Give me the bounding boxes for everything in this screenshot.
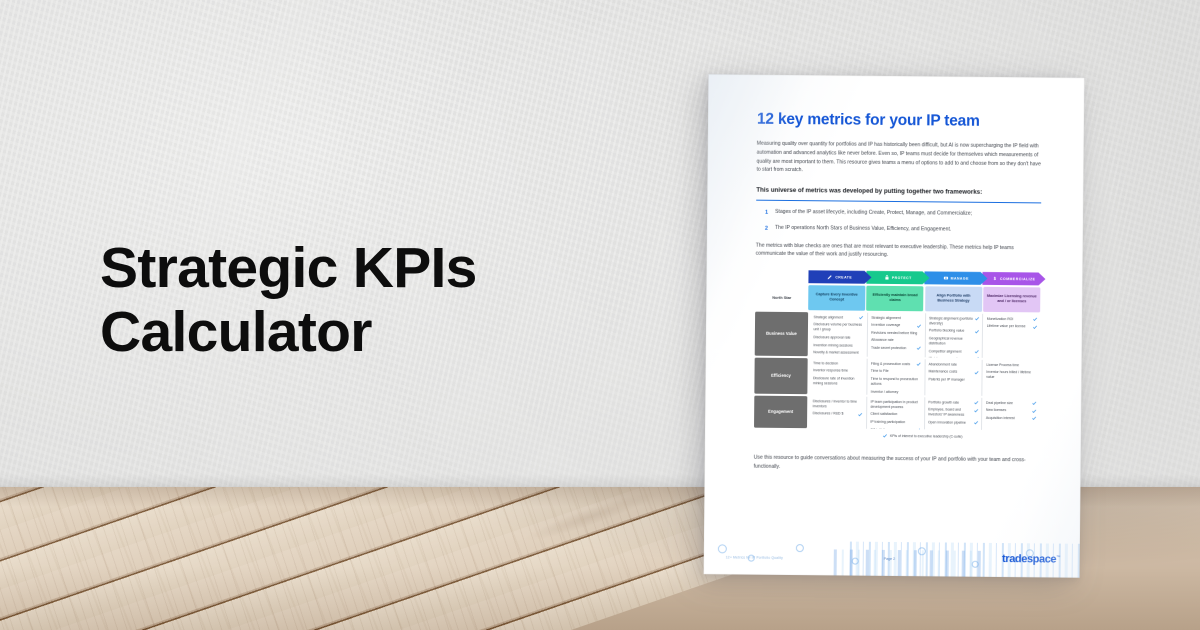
divider-rule	[756, 200, 1041, 204]
metric-label: Disclosures / R&D $	[813, 411, 857, 416]
metric-item: Competitor alignment	[929, 349, 979, 355]
metric-label: Time to decision	[813, 361, 863, 367]
matrix-cell: Strategic alignment (portfolio diversity…	[925, 313, 983, 358]
headline-line-2: Calculator	[100, 301, 620, 365]
legend: KPIs of interest to executive leadership…	[807, 433, 1039, 440]
metric-item: IP team participation in product develop…	[870, 399, 920, 410]
stage-chevron-manage[interactable]: MANAGE	[924, 271, 987, 285]
metric-item: Inventor hours billed / lifetime value	[986, 370, 1036, 381]
metric-label: IP team participation in product develop…	[870, 399, 920, 410]
metric-label: IP risk assessment	[929, 357, 973, 359]
blue-check-icon	[883, 434, 887, 438]
list-item-number: 2	[765, 224, 768, 232]
metric-item: New licenses	[986, 408, 1036, 414]
document-footer: 12+ Metrics for IP Portfolio Quality Pag…	[704, 540, 1080, 578]
blue-check-icon	[974, 357, 978, 358]
blue-check-icon	[859, 316, 863, 320]
metric-item: QC initiatives	[870, 427, 920, 430]
logo-text: tradespace	[1002, 553, 1056, 566]
blue-check-icon	[917, 324, 921, 328]
matrix-cell: License Process timeInventor hours bille…	[983, 359, 1040, 396]
metric-item: Disclosures / inventor to time inventors	[813, 399, 863, 410]
blue-check-icon	[974, 421, 978, 425]
metric-item: Strategic alignment	[871, 315, 921, 321]
stage-chevron-commercialize[interactable]: $COMMERCIALIZE	[982, 272, 1045, 286]
blue-check-icon	[975, 329, 979, 333]
metric-label: Inventor / attorney responsiveness	[871, 389, 921, 396]
blue-check-icon	[917, 347, 921, 351]
metric-label: Disclosures / inventor to time inventors	[813, 399, 863, 410]
ring-icon	[796, 544, 804, 552]
blue-check-icon	[974, 370, 978, 374]
metric-label: Time to File	[871, 369, 921, 375]
page-title: Strategic KPIs Calculator	[100, 237, 620, 365]
matrix-row: Business ValueStrategic alignmentDisclos…	[755, 311, 1040, 358]
metric-item: IP risk assessment	[929, 357, 979, 359]
metric-item: Acquisition interest	[986, 416, 1036, 422]
metric-label: Disclosure rate of invention mining sess…	[813, 376, 863, 387]
logo-trademark: ™	[1056, 554, 1060, 559]
matrix-row-cells: Disclosures / inventor to time inventors…	[809, 396, 1039, 430]
matrix-cell: Monetization ROILifetime value per licen…	[983, 313, 1040, 358]
metric-label: New licenses	[986, 408, 1030, 413]
metric-label: Monetization ROI	[987, 317, 1031, 322]
north-star-cell: Maximize Licensing revenue and / or lice…	[983, 286, 1040, 312]
framework-list: 1Stages of the IP asset lifecycle, inclu…	[756, 209, 1041, 235]
metric-item: IP training participation	[870, 420, 920, 426]
metric-label: Allowance rate	[871, 338, 921, 344]
metric-label: Portfolio growth rate	[928, 400, 972, 405]
document-note: The metrics with blue checks are ones th…	[756, 241, 1041, 261]
blue-check-icon	[974, 408, 978, 412]
metric-item: Disclosure rate of invention mining sess…	[813, 376, 863, 387]
matrix-cell: Strategic alignmentInvention coverageRev…	[867, 312, 925, 357]
matrix-row-label: Business Value	[755, 311, 808, 356]
document-preview[interactable]: 12 key metrics for your IP team Measurin…	[704, 74, 1085, 578]
metric-label: Open innovation pipeline	[928, 420, 972, 425]
metric-item: Abandonment rate	[929, 362, 979, 368]
footer-page-number: Page 2	[884, 557, 895, 561]
metric-item: Open innovation pipeline	[928, 420, 978, 426]
metric-label: Maintenance costs	[929, 370, 973, 375]
metric-label: Acquisition interest	[986, 416, 1030, 421]
blue-check-icon	[916, 428, 920, 430]
metric-label: Inventor hours billed / lifetime value	[986, 370, 1036, 381]
north-star-cell: Capture Every Inventive Concept	[808, 285, 865, 311]
blue-check-icon	[974, 350, 978, 354]
metrics-matrix: CREATEPROTECTMANAGE$COMMERCIALIZE North …	[754, 270, 1041, 440]
list-item: 1Stages of the IP asset lifecycle, inclu…	[756, 209, 1041, 220]
stage-label: MANAGE	[951, 276, 969, 280]
metric-item: Portfolio growth rate	[928, 400, 978, 406]
matrix-row: EngagementDisclosures / inventor to time…	[754, 395, 1039, 430]
metric-label: Novelty & market assessment scores	[813, 350, 863, 358]
stage-chevron-create[interactable]: CREATE	[808, 270, 871, 284]
metric-item: Revisions needed before filing	[871, 331, 921, 337]
metric-item: Employee, board and investors' IP awaren…	[928, 408, 978, 419]
matrix-row-cells: Time to decisionInventor response timeDi…	[809, 358, 1039, 396]
metric-item: Portfolio blocking value	[929, 329, 979, 335]
headline-line-1: Strategic KPIs	[100, 237, 620, 301]
matrix-cell: Strategic alignmentDisclosure volume per…	[810, 312, 868, 357]
lock-icon	[884, 275, 889, 280]
footer-left-label: 12+ Metrics for IP Portfolio Quality	[726, 555, 783, 560]
metric-label: Filing & prosecution costs	[871, 361, 915, 366]
matrix-cell: Abandonment rateMaintenance costsPatents…	[925, 359, 983, 396]
metric-item: Novelty & market assessment scores	[813, 350, 863, 358]
metric-label: Disclosure volume per business unit / gr…	[813, 322, 863, 333]
blue-check-icon	[975, 317, 979, 321]
blue-check-icon	[1032, 325, 1036, 329]
metric-label: Patents per IP manager	[928, 377, 978, 383]
metric-label: Inventor response time	[813, 368, 863, 374]
blue-check-icon	[917, 362, 921, 366]
tradespace-logo: tradespace™	[1002, 553, 1060, 566]
matrix-rows: Business ValueStrategic alignmentDisclos…	[754, 311, 1040, 430]
metric-item: Disclosure volume per business unit / gr…	[813, 322, 863, 333]
blue-check-icon	[1032, 401, 1036, 405]
document-content: 12 key metrics for your IP team Measurin…	[754, 111, 1042, 479]
north-star-cell: Efficiently maintain broad claims	[867, 285, 924, 311]
north-star-row: North Star Capture Every Inventive Conce…	[755, 284, 1040, 312]
matrix-row-label: Engagement	[754, 395, 807, 428]
metric-label: Invention mining sessions	[813, 343, 863, 349]
metric-item: Inventor response time	[813, 368, 863, 374]
matrix-cell: Time to decisionInventor response timeDi…	[809, 358, 867, 395]
metric-item: Time to respond to prosecution actions	[871, 377, 921, 388]
metric-item: Time to File	[871, 369, 921, 375]
document-page: 12 key metrics for your IP team Measurin…	[704, 74, 1085, 578]
matrix-row-label: Efficiency	[754, 357, 807, 394]
metric-item: Invention coverage	[871, 323, 921, 329]
metric-item: Time to decision	[813, 361, 863, 367]
metric-item: Maintenance costs	[929, 370, 979, 376]
metric-label: Strategic alignment (portfolio diversity…	[929, 316, 973, 326]
matrix-cell: Portfolio growth rateEmployee, board and…	[925, 397, 983, 430]
matrix-cell: Disclosures / inventor to time inventors…	[809, 396, 867, 429]
metric-label: Deal pipeline size	[986, 400, 1030, 405]
legend-text: KPIs of interest to executive leadership…	[890, 434, 963, 439]
list-item-text: Stages of the IP asset lifecycle, includ…	[775, 209, 972, 219]
metric-item: License Process time	[986, 362, 1036, 368]
ring-icon	[718, 544, 727, 553]
list-item: 2The IP operations North Stars of Busine…	[756, 224, 1041, 235]
stage-chevron-protect[interactable]: PROTECT	[866, 271, 929, 285]
metric-label: Employee, board and investors' IP awaren…	[928, 408, 972, 418]
metric-item: Client satisfaction	[870, 412, 920, 418]
metric-label: QC initiatives	[870, 427, 914, 430]
metric-item: Allowance rate	[871, 338, 921, 344]
matrix-cell: IP team participation in product develop…	[867, 396, 925, 429]
north-star-cell: Align Portfolio with Business Strategy	[925, 286, 982, 312]
metric-item: Monetization ROI	[987, 317, 1037, 323]
metric-label: Strategic alignment	[871, 315, 921, 321]
metric-item: Geographical revenue distribution	[929, 336, 979, 347]
matrix-row: EfficiencyTime to decisionInventor respo…	[754, 357, 1039, 396]
north-star-cells: Capture Every Inventive ConceptEfficient…	[808, 285, 1040, 312]
metric-item: Disclosures / R&D $	[813, 411, 863, 417]
metric-label: Lifetime value per license	[987, 324, 1031, 329]
blue-check-icon	[858, 412, 862, 416]
metric-label: Portfolio blocking value	[929, 329, 973, 334]
stage-label: COMMERCIALIZE	[1000, 277, 1035, 281]
metric-item: Trade secret protection	[871, 346, 921, 352]
metric-item: Filing & prosecution costs	[871, 361, 921, 367]
matrix-row-cells: Strategic alignmentDisclosure volume per…	[810, 312, 1040, 358]
metric-label: Invention coverage	[871, 323, 915, 328]
matrix-cell: Filing & prosecution costsTime to FileTi…	[867, 358, 925, 395]
list-item-number: 1	[765, 209, 768, 217]
stage-header-row: CREATEPROTECTMANAGE$COMMERCIALIZE	[808, 270, 1040, 285]
metric-label: Strategic alignment	[814, 315, 858, 320]
metric-label: License Process time	[986, 362, 1036, 368]
matrix-cell: Deal pipeline sizeNew licensesAcquisitio…	[982, 397, 1039, 430]
blue-check-icon	[1033, 317, 1037, 321]
ring-icon	[852, 558, 859, 565]
document-closing-paragraph: Use this resource to guide conversations…	[754, 454, 1039, 474]
metric-label: IP training participation	[870, 420, 920, 426]
metric-label: Abandonment rate	[929, 362, 979, 368]
blue-check-icon	[1032, 416, 1036, 420]
dollar-icon: $	[992, 276, 997, 281]
document-intro-paragraph: Measuring quality over quantity for port…	[756, 140, 1041, 178]
stage-label: CREATE	[835, 275, 852, 279]
metric-label: Geographical revenue distribution	[929, 336, 979, 347]
metric-label: Disclosure approval rate	[813, 335, 863, 341]
gauge-icon	[943, 276, 948, 281]
metric-item: Strategic alignment (portfolio diversity…	[929, 316, 979, 327]
metric-item: Disclosure approval rate	[813, 335, 863, 341]
document-title: 12 key metrics for your IP team	[757, 111, 1042, 132]
north-star-label: North Star	[755, 284, 808, 310]
ring-icon	[972, 561, 979, 568]
metric-label: Time to respond to prosecution actions	[871, 377, 921, 388]
svg-text:$: $	[994, 276, 997, 281]
metric-item: Lifetime value per license	[987, 324, 1037, 330]
metric-item: Patents per IP manager	[928, 377, 978, 383]
metric-item: Deal pipeline size	[986, 400, 1036, 406]
metric-label: Revisions needed before filing	[871, 331, 921, 337]
metric-label: Competitor alignment	[929, 349, 973, 354]
document-subheading: This universe of metrics was developed b…	[756, 186, 1041, 198]
metric-label: Trade secret protection	[871, 346, 915, 351]
metric-item: Invention mining sessions	[813, 343, 863, 349]
ring-icon	[918, 547, 926, 555]
list-item-text: The IP operations North Stars of Busines…	[775, 224, 951, 234]
blue-check-icon	[1032, 409, 1036, 413]
blue-check-icon	[974, 401, 978, 405]
metric-label: Client satisfaction	[870, 412, 920, 418]
metric-item: Inventor / attorney responsiveness	[871, 389, 921, 396]
pencil-icon	[828, 274, 833, 279]
metric-item: Strategic alignment	[814, 315, 864, 321]
stage-label: PROTECT	[892, 276, 912, 280]
